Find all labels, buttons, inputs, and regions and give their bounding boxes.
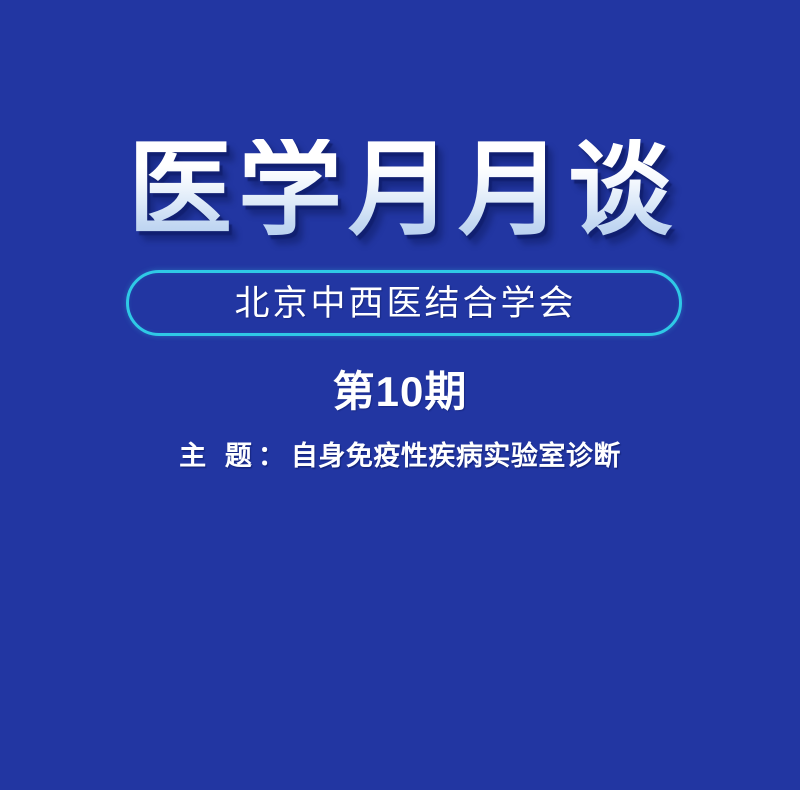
- organization-pill: 北京中西医结合学会: [126, 270, 682, 336]
- masthead: 医学月月谈: [0, 133, 800, 248]
- organization-name: 北京中西医结合学会: [231, 286, 576, 321]
- empty-lower-area: [0, 490, 800, 790]
- topic-line: 主 题：自身免疫性疾病实验室诊断: [0, 442, 800, 472]
- poster-canvas: 医学月月谈 北京中西医结合学会 第10期 主 题：自身免疫性疾病实验室诊断: [0, 0, 800, 790]
- issue-number: 第10期: [0, 371, 800, 413]
- topic-value: 自身免疫性疾病实验室诊断: [291, 441, 621, 471]
- topic-label: 主 题：: [179, 441, 291, 471]
- page-title: 医学月月谈: [122, 139, 678, 243]
